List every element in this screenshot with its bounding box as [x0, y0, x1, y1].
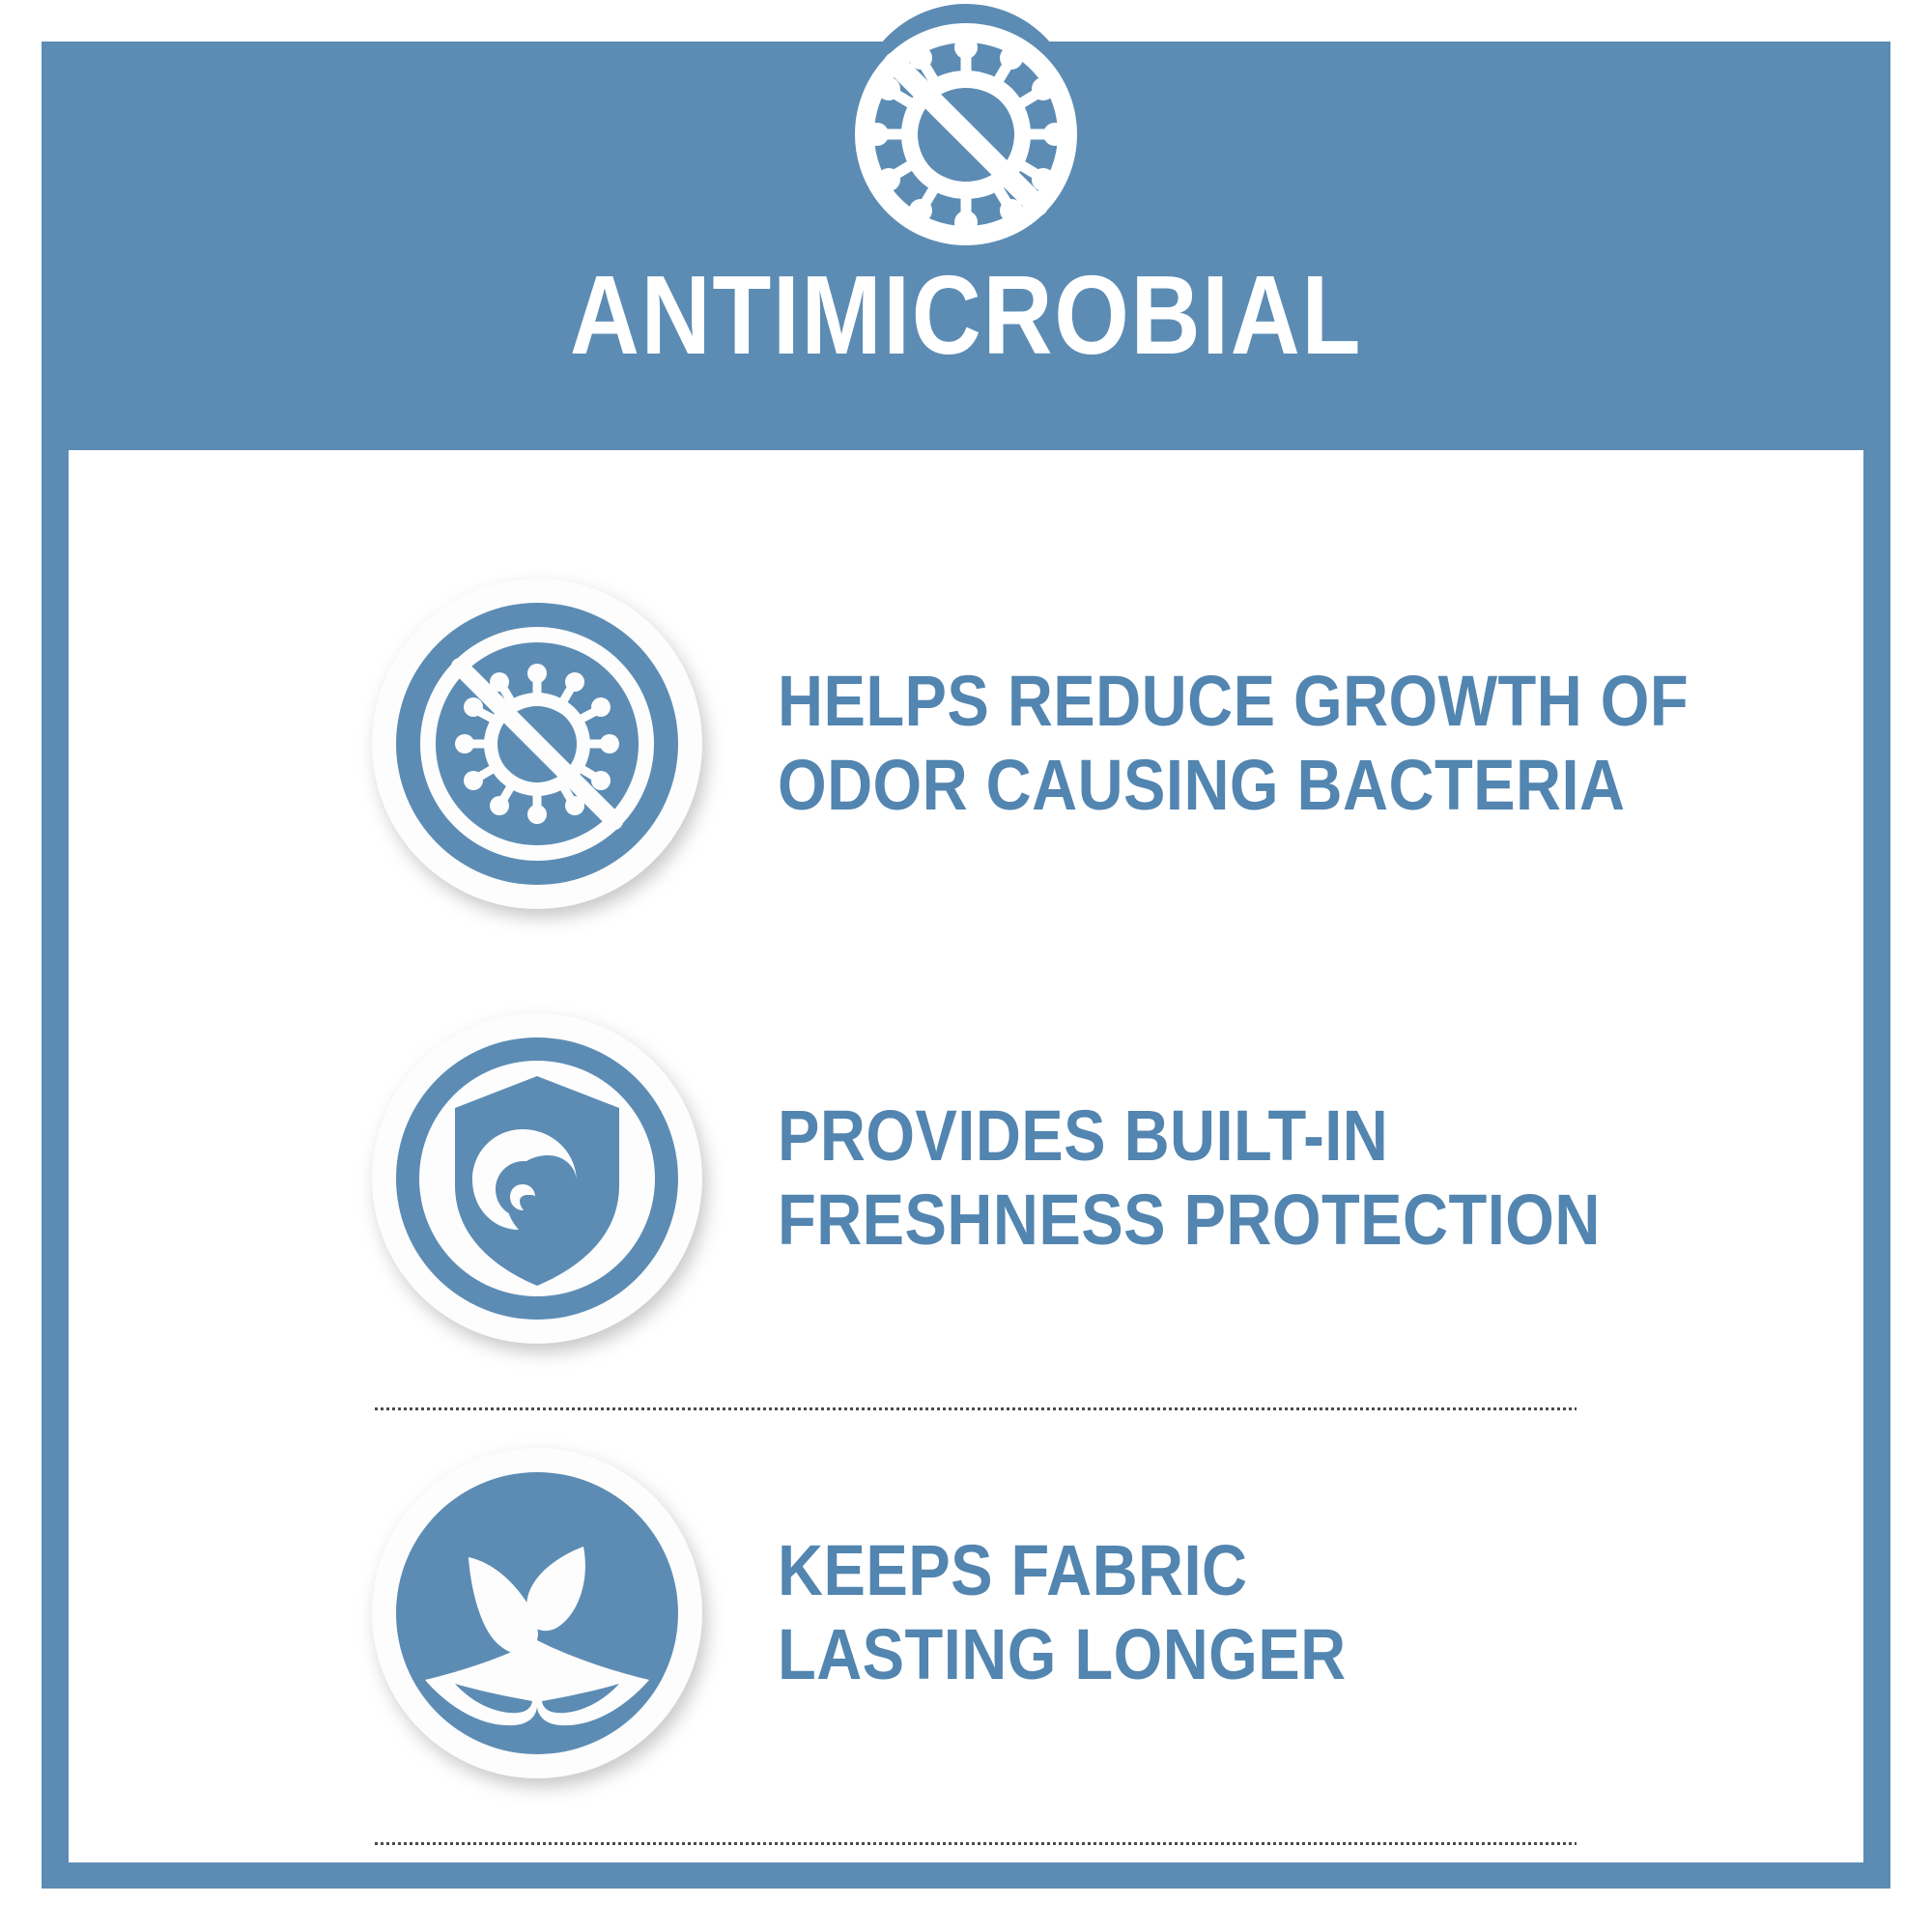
feature-row: HELPS REDUCE GROWTH OF ODOR CAUSING BACT… — [0, 570, 1932, 918]
feature-line-2: FRESHNESS PROTECTION — [778, 1179, 1601, 1263]
feature-line-2: LASTING LONGER — [778, 1613, 1347, 1697]
feature-text: HELPS REDUCE GROWTH OF ODOR CAUSING BACT… — [778, 660, 1689, 827]
header-bump-shape — [855, 4, 1077, 226]
row-divider — [375, 1407, 1577, 1410]
shield-swirl-icon — [372, 1013, 702, 1344]
feature-line-1: KEEPS FABRIC — [778, 1529, 1347, 1613]
row-divider — [375, 1842, 1577, 1845]
feature-line-1: HELPS REDUCE GROWTH OF — [778, 660, 1689, 744]
no-virus-icon — [372, 579, 702, 909]
feature-row: PROVIDES BUILT-IN FRESHNESS PROTECTION — [0, 1005, 1932, 1352]
feature-text: PROVIDES BUILT-IN FRESHNESS PROTECTION — [778, 1094, 1601, 1262]
antimicrobial-infographic: ANTIMICROBIAL — [0, 0, 1932, 1932]
leaf-plant-icon — [372, 1448, 702, 1778]
feature-line-1: PROVIDES BUILT-IN — [778, 1094, 1601, 1179]
feature-line-2: ODOR CAUSING BACTERIA — [778, 744, 1689, 828]
feature-row: KEEPS FABRIC LASTING LONGER — [0, 1439, 1932, 1787]
feature-list: HELPS REDUCE GROWTH OF ODOR CAUSING BACT… — [0, 450, 1932, 1862]
feature-text: KEEPS FABRIC LASTING LONGER — [778, 1529, 1347, 1696]
